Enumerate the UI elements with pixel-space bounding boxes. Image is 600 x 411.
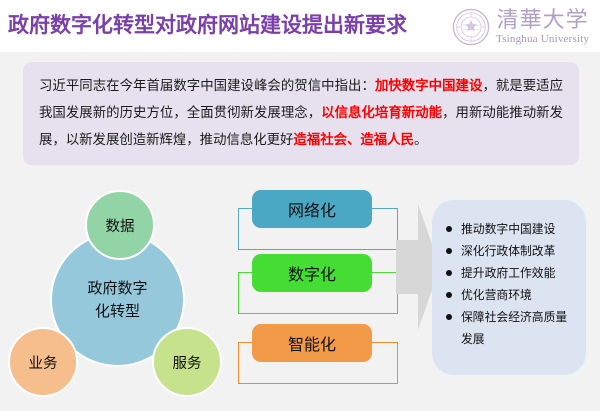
circle-data: 数据 (85, 190, 155, 260)
quote-text: 习近平同志在今年首届数字中国建设峰会的贺信中指出：加快数字中国建设，就是要适应我… (39, 72, 563, 153)
stage-intelligence-label: 智能化 (252, 324, 372, 362)
outcome-item: 深化行政体制改革 (444, 240, 576, 262)
logo-name-en: Tsinghua University (496, 34, 589, 45)
quote-segment: 。 (414, 132, 427, 147)
circle-business: 业务 (8, 327, 78, 397)
stage-networking-label: 网络化 (252, 190, 372, 228)
stage-digitalization: 数字化 (238, 254, 408, 314)
outcomes-panel: 推动数字中国建设深化行政体制改革提升政府工作效能优化营商环境保障社会经济高质量发… (432, 200, 586, 375)
quote-segment: 习近平同志在今年首届数字中国建设峰会的贺信中指出： (39, 78, 375, 93)
stage-digitalization-label: 数字化 (252, 254, 372, 292)
outcome-item: 推动数字中国建设 (444, 218, 576, 240)
page-title: 政府数字化转型对政府网站建设提出新要求 (8, 9, 407, 39)
quote-callout-box: 习近平同志在今年首届数字中国建设峰会的贺信中指出：加快数字中国建设，就是要适应我… (23, 62, 579, 165)
outcome-item: 保障社会经济高质量发展 (444, 306, 576, 350)
logo-name-cn: 清華大学 (497, 9, 589, 31)
circle-core-line1: 政府数字 (87, 280, 147, 297)
stage-intelligence: 智能化 (238, 324, 408, 384)
outcome-item: 优化营商环境 (444, 284, 576, 306)
tsinghua-seal-icon (452, 8, 490, 46)
stage-networking: 网络化 (238, 190, 408, 250)
quote-highlight: 以信息化培育新动能 (321, 105, 442, 120)
outcome-item: 提升政府工作效能 (444, 262, 576, 284)
tsinghua-logo: 清華大学 Tsinghua University (452, 6, 592, 48)
quote-highlight: 加快数字中国建设 (375, 78, 483, 93)
circle-service: 服务 (152, 327, 222, 397)
transformation-diagram: 政府数字 化转型 数据 业务 服务 网络化 数字化 智能化 推动数字中国建设深化… (0, 172, 600, 411)
outcomes-list: 推动数字中国建设深化行政体制改革提升政府工作效能优化营商环境保障社会经济高质量发… (444, 218, 576, 350)
quote-highlight: 造福社会、造福人民 (293, 132, 414, 147)
slide-header: 政府数字化转型对政府网站建设提出新要求 清華大学 Tsinghua Univer… (0, 0, 600, 52)
circle-core-line2: 化转型 (95, 303, 140, 320)
